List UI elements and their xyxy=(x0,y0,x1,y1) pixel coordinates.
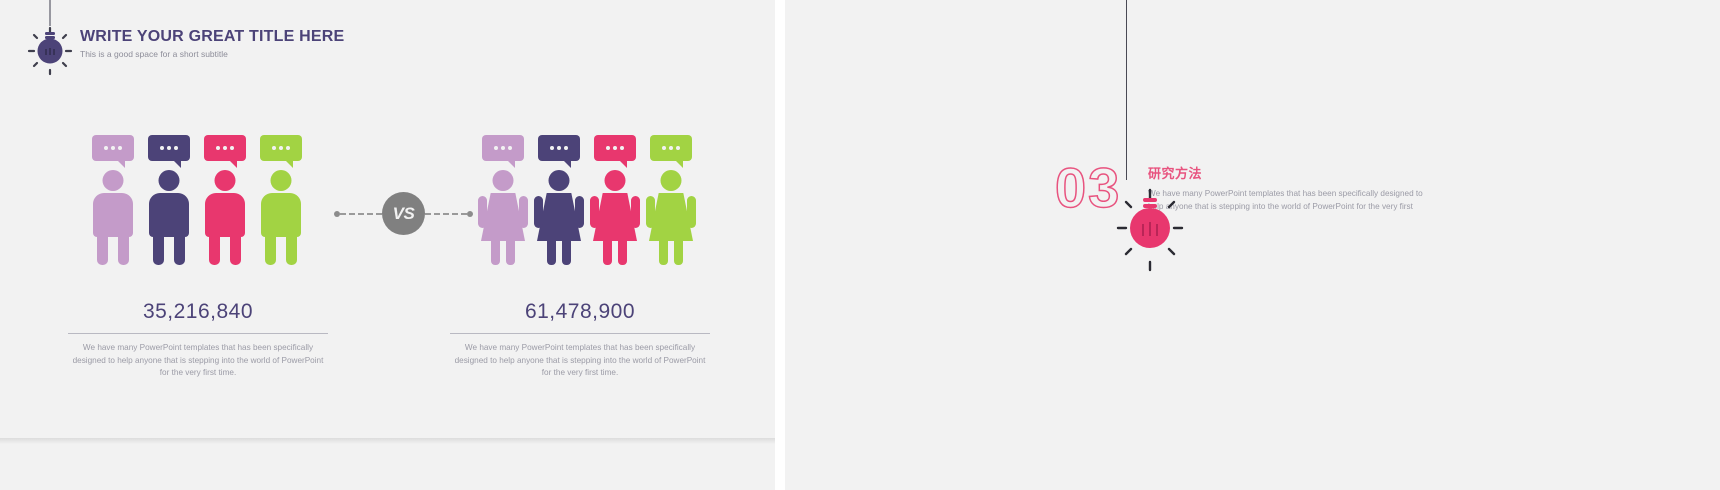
vs-label: VS xyxy=(382,192,425,235)
figure-male-2[interactable] xyxy=(141,135,197,265)
slide-canvas: WRITE YOUR GREAT TITLE HERE This is a go… xyxy=(0,0,1720,490)
stat-value-right: 61,478,900 xyxy=(450,300,710,324)
speech-bubble-icon xyxy=(538,135,580,161)
speech-bubble-icon xyxy=(92,135,134,161)
slide-shadow xyxy=(0,438,775,444)
right-slide-panel: 03 研究方法 We have many PowerPoint template… xyxy=(785,0,1720,490)
speech-bubble-icon xyxy=(148,135,190,161)
stat-description-left: We have many PowerPoint templates that h… xyxy=(68,342,328,380)
speech-bubble-icon xyxy=(650,135,692,161)
stat-block-left: 35,216,840 We have many PowerPoint templ… xyxy=(68,300,328,380)
stat-value-left: 35,216,840 xyxy=(68,300,328,324)
female-figure-group xyxy=(475,135,699,265)
figure-male-3[interactable] xyxy=(197,135,253,265)
left-slide-panel: WRITE YOUR GREAT TITLE HERE This is a go… xyxy=(0,0,775,438)
figure-female-2[interactable] xyxy=(531,135,587,265)
speech-bubble-icon xyxy=(204,135,246,161)
figure-female-4[interactable] xyxy=(643,135,699,265)
bulb-cord xyxy=(1126,0,1127,180)
page-subtitle: This is a good space for a short subtitl… xyxy=(80,49,344,59)
slide-header: WRITE YOUR GREAT TITLE HERE This is a go… xyxy=(80,28,344,59)
lightbulb-icon xyxy=(1100,176,1154,346)
lightbulb-icon xyxy=(22,0,78,80)
figure-male-1[interactable] xyxy=(85,135,141,265)
speech-bubble-icon xyxy=(260,135,302,161)
connector-line-right xyxy=(425,213,467,215)
speech-bubble-icon xyxy=(482,135,524,161)
stat-block-right: 61,478,900 We have many PowerPoint templ… xyxy=(450,300,710,380)
versus-badge: VS xyxy=(334,192,473,235)
figure-female-1[interactable] xyxy=(475,135,531,265)
male-figure-group xyxy=(85,135,309,265)
page-title: WRITE YOUR GREAT TITLE HERE xyxy=(80,28,344,46)
divider xyxy=(450,333,710,334)
connector-line-left xyxy=(340,213,382,215)
panel-divider xyxy=(775,0,785,490)
figure-female-3[interactable] xyxy=(587,135,643,265)
stat-description-right: We have many PowerPoint templates that h… xyxy=(450,342,710,380)
divider xyxy=(68,333,328,334)
connector-dot xyxy=(467,211,473,217)
figure-male-4[interactable] xyxy=(253,135,309,265)
speech-bubble-icon xyxy=(594,135,636,161)
